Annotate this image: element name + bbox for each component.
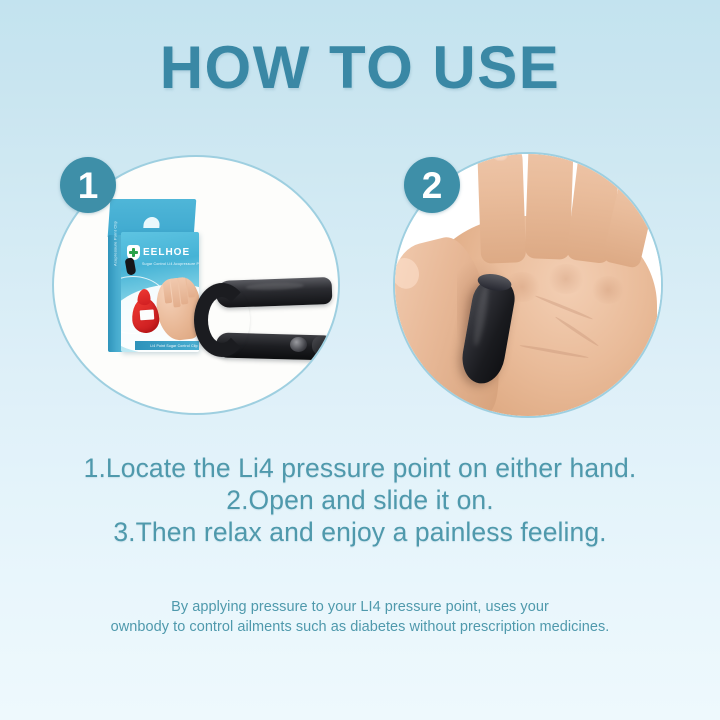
product-box-subtitle: Sugar Control Li4 Acupressure Point Clip bbox=[142, 262, 199, 266]
brand-name: EELHOE bbox=[143, 248, 190, 258]
box-hang-hole bbox=[143, 217, 160, 228]
product-box-bottom-banner: Li4 Point Sugar Control Clip bbox=[135, 341, 199, 350]
acupressure-clip-device bbox=[194, 279, 332, 364]
index-finger bbox=[477, 152, 526, 264]
step-badge-2: 2 bbox=[404, 157, 460, 213]
instruction-step-1: 1.Locate the Li4 pressure point on eithe… bbox=[0, 452, 720, 484]
instruction-steps: 1.Locate the Li4 pressure point on eithe… bbox=[0, 452, 720, 548]
clip-magnet-node bbox=[290, 337, 307, 352]
knuckle-shading-2 bbox=[547, 264, 585, 294]
product-box-side-text: Acupressure Point Clip bbox=[113, 216, 118, 272]
how-to-use-infographic: HOW TO USE Acupressure Point Clip EELHOE… bbox=[0, 0, 720, 720]
footer-note: By applying pressure to your LI4 pressur… bbox=[0, 597, 720, 637]
box-hand-clip-illustration bbox=[125, 257, 137, 275]
knuckle-shading-3 bbox=[591, 276, 625, 304]
blood-drop-label-patch bbox=[140, 309, 155, 320]
footer-line-2: ownbody to control ailments such as diab… bbox=[0, 617, 720, 637]
product-box-front-face: EELHOE Sugar Control Li4 Acupressure Poi… bbox=[121, 232, 199, 352]
clip-hinge-bend bbox=[194, 283, 250, 357]
instruction-step-3: 3.Then relax and enjoy a painless feelin… bbox=[0, 516, 720, 548]
footer-line-1: By applying pressure to your LI4 pressur… bbox=[0, 597, 720, 617]
step-badge-1: 1 bbox=[60, 157, 116, 213]
instruction-step-2: 2.Open and slide it on. bbox=[0, 484, 720, 516]
clip-lower-tip bbox=[312, 336, 331, 355]
brand-lockup: EELHOE bbox=[127, 245, 190, 260]
page-title: HOW TO USE bbox=[0, 38, 720, 98]
